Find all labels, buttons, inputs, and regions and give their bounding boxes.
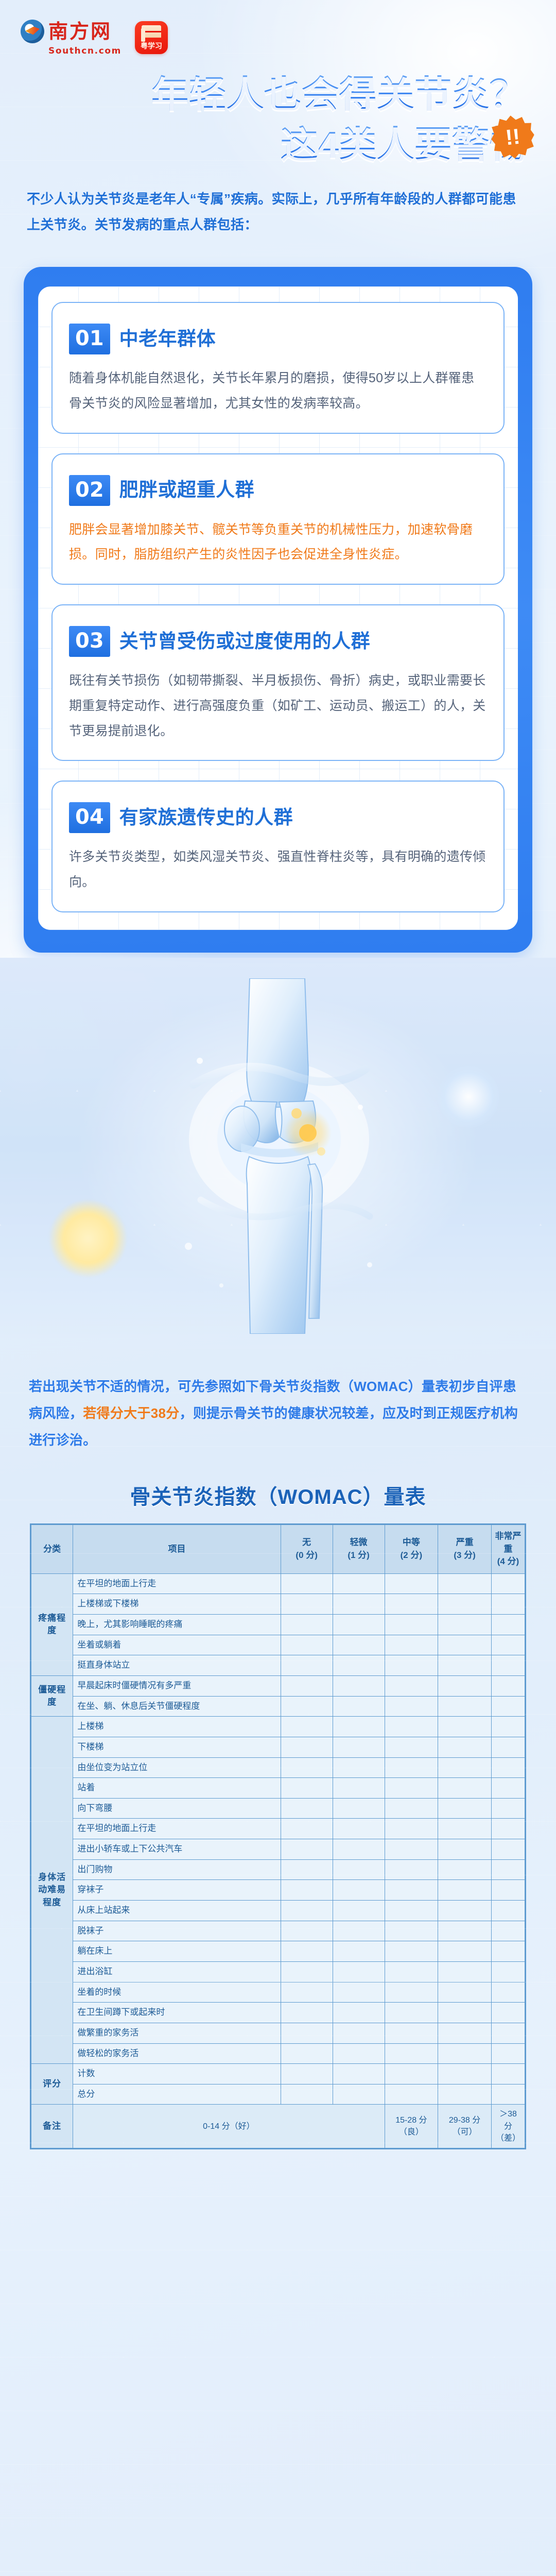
risk-card-02-head: 02 肥胖或超重人群 [69,475,487,506]
womac-score-cell-1[interactable] [333,1635,385,1655]
womac-score-cell-3[interactable] [438,1859,492,1880]
risk-card-01-body: 随着身体机能自然退化，关节长年累月的磨损，使得50岁以上人群罹患骨关节炎的风险显… [69,366,487,416]
risk-card-01-number: 01 [69,324,110,354]
womac-score-summary-cell-3[interactable] [438,2064,492,2084]
womac-item-cell: 站着 [73,1778,281,1799]
womac-score-cell-0[interactable] [281,1635,333,1655]
intro-paragraph: 不少人认为关节炎是老年人“专属”疾病。实际上，几乎所有年龄段的人群都可能患上关节… [27,187,529,238]
womac-score-cell-3[interactable] [438,1655,492,1676]
womac-score-cell-3[interactable] [438,1961,492,1982]
womac-score-cell-2[interactable] [385,2043,438,2064]
womac-row: 做轻松的家务活 [31,2043,525,2064]
womac-score-cell-0[interactable] [281,1737,333,1757]
womac-score-cell-2[interactable] [385,1717,438,1737]
womac-row: 晚上，尤其影响睡眠的疼痛 [31,1615,525,1635]
womac-item-cell: 上楼梯 [73,1717,281,1737]
womac-score-cell-1[interactable] [333,1594,385,1615]
womac-score-summary-cell-2[interactable] [385,2064,438,2084]
risk-card-03-body: 既往有关节损伤（如韧带撕裂、半月板损伤、骨折）病史，或职业需要长期重复特定动作、… [69,668,487,743]
womac-score-cell-1[interactable] [333,1982,385,2003]
womac-score-cell-3[interactable] [438,1778,492,1799]
womac-score-cell-0[interactable] [281,1859,333,1880]
womac-score-cell-0[interactable] [281,1594,333,1615]
womac-score-cell-2[interactable] [385,1839,438,1860]
womac-row: 下楼梯 [31,1737,525,1757]
womac-score-cell-2[interactable] [385,1676,438,1697]
womac-score-cell-4[interactable] [491,1982,525,2003]
womac-row: 出门购物 [31,1859,525,1880]
womac-item-cell: 早晨起床时僵硬情况有多严重 [73,1676,281,1697]
womac-score-cell-0[interactable] [281,1901,333,1921]
womac-score-cell-4[interactable] [491,2043,525,2064]
womac-score-cell-0[interactable] [281,1655,333,1676]
womac-score-cell-1[interactable] [333,1778,385,1799]
womac-score-cell-1[interactable] [333,1615,385,1635]
womac-row: 疼痛程度在平坦的地面上行走 [31,1573,525,1594]
risk-card-01-title: 中老年群体 [119,328,216,350]
womac-score-cell-2[interactable] [385,1737,438,1757]
womac-score-cell-2[interactable] [385,1941,438,1962]
womac-item-cell: 脱袜子 [73,1921,281,1941]
womac-score-cell-3[interactable] [438,2023,492,2043]
womac-score-cell-3[interactable] [438,1615,492,1635]
womac-score-cell-0[interactable] [281,1982,333,2003]
womac-row: 在坐、躺、休息后关节僵硬程度 [31,1696,525,1717]
womac-score-cell-2[interactable] [385,1615,438,1635]
womac-item-cell: 向下弯腰 [73,1798,281,1819]
womac-category-cell: 僵硬程度 [31,1676,73,1717]
risk-card-02-number: 02 [69,475,110,506]
womac-note-cell-2: 29-38 分（可） [438,2105,492,2148]
risk-card-03-number: 03 [69,626,110,657]
risk-card-03: 03 关节曾受伤或过度使用的人群 既往有关节损伤（如韧带撕裂、半月板损伤、骨折）… [51,604,505,761]
womac-score-cell-2[interactable] [385,1635,438,1655]
womac-score-cell-0[interactable] [281,1757,333,1778]
womac-score-cell-2[interactable] [385,1798,438,1819]
womac-row: 挺直身体站立 [31,1655,525,1676]
womac-score-cell-4[interactable] [491,1778,525,1799]
womac-item-cell: 由坐位变为站立位 [73,1757,281,1778]
womac-score-cell-4[interactable] [491,2003,525,2023]
womac-score-cell-1[interactable] [333,1901,385,1921]
womac-score-summary-cell-0[interactable] [281,2064,333,2084]
womac-row: 脱袜子 [31,1921,525,1941]
womac-score-cell-2[interactable] [385,1757,438,1778]
womac-col-category: 分类 [31,1524,73,1573]
womac-row: 上楼梯或下楼梯 [31,1594,525,1615]
womac-item-cell: 进出小轿车或上下公共汽车 [73,1839,281,1860]
womac-col-item: 项目 [73,1524,281,1573]
risk-card-04-body: 许多关节炎类型，如类风湿关节炎、强直性脊柱炎等，具有明确的遗传倾向。 [69,844,487,895]
womac-row: 在平坦的地面上行走 [31,1819,525,1839]
page-title-line-1: 年轻人也会得关节炎？ [151,71,527,118]
womac-score-cell-2[interactable] [385,1901,438,1921]
womac-score-summary-cell-1[interactable] [333,2064,385,2084]
womac-score-cell-3[interactable] [438,1798,492,1819]
womac-table-wrap: 分类 项目 无(0 分) 轻微(1 分) 中等(2 分) 严重(3 分) 非常严… [30,1523,526,2149]
womac-table: 分类 项目 无(0 分) 轻微(1 分) 中等(2 分) 严重(3 分) 非常严… [31,1524,525,2148]
womac-score-cell-1[interactable] [333,1921,385,1941]
womac-score-cell-0[interactable] [281,1819,333,1839]
womac-score-cell-4[interactable] [491,1594,525,1615]
womac-score-cell-3[interactable] [438,1696,492,1717]
risk-card-01: 01 中老年群体 随着身体机能自然退化，关节长年累月的磨损，使得50岁以上人群罹… [51,302,505,434]
womac-row: 穿袜子 [31,1880,525,1901]
womac-item-cell: 在卫生间蹲下或起来时 [73,2003,281,2023]
knee-illustration-section [0,958,556,1349]
risk-card-02-title: 肥胖或超重人群 [119,479,255,501]
womac-score-cell-3[interactable] [438,1982,492,2003]
womac-score-cell-0[interactable] [281,1696,333,1717]
womac-score-cell-2[interactable] [385,1778,438,1799]
womac-score-cell-1[interactable] [333,1737,385,1757]
womac-score-cell-3[interactable] [438,2003,492,2023]
womac-score-cell-3[interactable] [438,1676,492,1697]
womac-item-cell: 上楼梯或下楼梯 [73,1594,281,1615]
womac-table-body: 疼痛程度在平坦的地面上行走上楼梯或下楼梯晚上，尤其影响睡眠的疼痛坐着或躺着挺直身… [31,1573,525,2148]
womac-score-cell-0[interactable] [281,1573,333,1594]
womac-score-cell-3[interactable] [438,1573,492,1594]
knee-joint-xray-illustration-icon [144,978,412,1334]
womac-score-cell-1[interactable] [333,1819,385,1839]
womac-score-cell-0[interactable] [281,1941,333,1962]
yuexuexi-app-icon: 粤学习 [135,21,168,54]
risk-card-04-number: 04 [69,802,110,833]
womac-score-cell-4[interactable] [491,1635,525,1655]
womac-item-cell: 在平坦的地面上行走 [73,1819,281,1839]
womac-score-cell-2[interactable] [385,1961,438,1982]
womac-score-cell-1[interactable] [333,1573,385,1594]
womac-score-label-cell: 评分 [31,2064,73,2105]
womac-score-summary-cell-3[interactable] [438,2084,492,2105]
womac-score-cell-4[interactable] [491,1655,525,1676]
womac-item-cell: 做繁重的家务活 [73,2023,281,2043]
womac-score-cell-0[interactable] [281,1615,333,1635]
womac-score-cell-2[interactable] [385,1573,438,1594]
womac-score-cell-1[interactable] [333,1961,385,1982]
womac-note-row: 备注0-14 分（好）15-28 分（良）29-38 分（可）＞38 分（差） [31,2105,525,2148]
risk-groups-panel: 01 中老年群体 随着身体机能自然退化，关节长年累月的磨损，使得50岁以上人群罹… [24,267,532,953]
womac-score-cell-3[interactable] [438,1635,492,1655]
womac-score-cell-3[interactable] [438,1921,492,1941]
womac-score-cell-1[interactable] [333,2043,385,2064]
womac-score-cell-0[interactable] [281,1961,333,1982]
yuexuexi-label: 粤学习 [135,41,168,51]
womac-table-head: 分类 项目 无(0 分) 轻微(1 分) 中等(2 分) 严重(3 分) 非常严… [31,1524,525,1573]
footer-spacer [0,2180,556,2201]
womac-item-cell: 穿袜子 [73,1880,281,1901]
womac-row: 站着 [31,1778,525,1799]
womac-row: 进出浴缸 [31,1961,525,1982]
womac-item-cell: 坐着的时候 [73,1982,281,2003]
womac-score-cell-4[interactable] [491,1757,525,1778]
womac-header-row: 分类 项目 无(0 分) 轻微(1 分) 中等(2 分) 严重(3 分) 非常严… [31,1524,525,1573]
womac-row: 从床上站起来 [31,1901,525,1921]
womac-score-cell-1[interactable] [333,2023,385,2043]
womac-item-cell: 出门购物 [73,1859,281,1880]
womac-category-cell: 身体活动难易程度 [31,1717,73,2064]
womac-item-cell: 在坐、躺、休息后关节僵硬程度 [73,1696,281,1717]
risk-card-01-head: 01 中老年群体 [69,324,487,354]
womac-col-score-3: 严重(3 分) [438,1524,492,1573]
advice-paragraph: 若出现关节不适的情况，可先参照如下骨关节炎指数（WOMAC）量表初步自评患病风险… [29,1373,527,1453]
womac-score-sublabel-cell: 总分 [73,2084,281,2105]
womac-score-summary-cell-2[interactable] [385,2084,438,2105]
womac-score-cell-1[interactable] [333,1696,385,1717]
womac-score-cell-2[interactable] [385,2003,438,2023]
womac-item-cell: 挺直身体站立 [73,1655,281,1676]
womac-score-cell-1[interactable] [333,1757,385,1778]
womac-row: 僵硬程度早晨起床时僵硬情况有多严重 [31,1676,525,1697]
womac-score-cell-2[interactable] [385,1655,438,1676]
womac-score-cell-4[interactable] [491,1941,525,1962]
womac-score-cell-2[interactable] [385,1982,438,2003]
white-glow-accent [438,1066,499,1128]
womac-score-cell-1[interactable] [333,2003,385,2023]
infographic-page: 南方网 Southcn.com 粤学习 年轻人也会得关节炎？ 这4类人要警惕 !… [0,0,556,2576]
womac-score-cell-4[interactable] [491,1859,525,1880]
womac-score-cell-3[interactable] [438,1594,492,1615]
womac-note-cell-3: ＞38 分（差） [491,2105,525,2148]
womac-item-cell: 坐着或躺着 [73,1635,281,1655]
womac-item-cell: 在平坦的地面上行走 [73,1573,281,1594]
womac-row: 坐着的时候 [31,1982,525,2003]
womac-score-cell-1[interactable] [333,1655,385,1676]
womac-score-summary-row: 评分计数 [31,2064,525,2084]
womac-row: 进出小轿车或上下公共汽车 [31,1839,525,1860]
womac-score-cell-1[interactable] [333,1941,385,1962]
womac-score-cell-0[interactable] [281,2023,333,2043]
womac-item-cell: 下楼梯 [73,1737,281,1757]
womac-note-label-cell: 备注 [31,2105,73,2148]
womac-score-cell-2[interactable] [385,2023,438,2043]
womac-score-cell-4[interactable] [491,1573,525,1594]
womac-item-cell: 做轻松的家务活 [73,2043,281,2064]
womac-score-cell-4[interactable] [491,1839,525,1860]
risk-groups-panel-inner: 01 中老年群体 随着身体机能自然退化，关节长年累月的磨损，使得50岁以上人群罹… [38,286,518,930]
womac-row: 身体活动难易程度上楼梯 [31,1717,525,1737]
womac-score-cell-1[interactable] [333,1798,385,1819]
womac-score-cell-4[interactable] [491,1819,525,1839]
womac-row: 向下弯腰 [31,1798,525,1819]
womac-score-cell-2[interactable] [385,1594,438,1615]
womac-score-cell-3[interactable] [438,1819,492,1839]
womac-score-summary-cell-4[interactable] [491,2064,525,2084]
womac-table-title: 骨关节炎指数（WOMAC）量表 [0,1480,556,1510]
southcn-logo-cn: 南方网 [48,22,112,41]
logo-bar: 南方网 Southcn.com 粤学习 [0,0,556,62]
womac-col-score-0: 无(0 分) [281,1524,333,1573]
womac-row: 躺在床上 [31,1941,525,1962]
southcn-logo-en: Southcn.com [48,46,121,56]
womac-score-cell-3[interactable] [438,1839,492,1860]
womac-score-cell-4[interactable] [491,1880,525,1901]
womac-score-cell-4[interactable] [491,1737,525,1757]
womac-item-cell: 从床上站起来 [73,1901,281,1921]
womac-score-cell-0[interactable] [281,1921,333,1941]
womac-row: 坐着或躺着 [31,1635,525,1655]
womac-score-cell-4[interactable] [491,1961,525,1982]
risk-card-04-title: 有家族遗传史的人群 [119,806,293,829]
womac-score-cell-4[interactable] [491,1921,525,1941]
womac-score-cell-0[interactable] [281,1839,333,1860]
southcn-swirl-logo-icon [21,20,44,43]
womac-score-cell-4[interactable] [491,1717,525,1737]
womac-score-cell-1[interactable] [333,1859,385,1880]
womac-score-cell-0[interactable] [281,2043,333,2064]
womac-score-cell-3[interactable] [438,1717,492,1737]
womac-score-cell-0[interactable] [281,1778,333,1799]
womac-score-cell-3[interactable] [438,1737,492,1757]
womac-col-score-1: 轻微(1 分) [333,1524,385,1573]
womac-score-cell-1[interactable] [333,1839,385,1860]
womac-col-score-2: 中等(2 分) [385,1524,438,1573]
womac-score-cell-4[interactable] [491,1676,525,1697]
womac-item-cell: 躺在床上 [73,1941,281,1962]
womac-col-score-4: 非常严重(4 分) [491,1524,525,1573]
womac-score-cell-1[interactable] [333,1880,385,1901]
womac-note-cell-1: 15-28 分（良） [385,2105,438,2148]
womac-score-cell-2[interactable] [385,1921,438,1941]
womac-score-cell-2[interactable] [385,1859,438,1880]
womac-row: 由坐位变为站立位 [31,1757,525,1778]
womac-score-cell-1[interactable] [333,1676,385,1697]
risk-card-02: 02 肥胖或超重人群 肥胖会显著增加膝关节、髋关节等负重关节的机械性压力，加速软… [51,453,505,585]
womac-score-cell-0[interactable] [281,1880,333,1901]
risk-card-04-head: 04 有家族遗传史的人群 [69,802,487,833]
womac-score-summary-cell-4[interactable] [491,2084,525,2105]
womac-note-cell-0: 0-14 分（好） [73,2105,385,2148]
womac-score-summary-cell-1[interactable] [333,2084,385,2105]
womac-score-cell-3[interactable] [438,1757,492,1778]
bookmark-icon [141,28,145,42]
womac-item-cell: 进出浴缸 [73,1961,281,1982]
womac-score-cell-0[interactable] [281,2003,333,2023]
risk-card-03-head: 03 关节曾受伤或过度使用的人群 [69,626,487,657]
womac-score-summary-cell-0[interactable] [281,2084,333,2105]
risk-card-04: 04 有家族遗传史的人群 许多关节炎类型，如类风湿关节炎、强直性脊柱炎等，具有明… [51,781,505,912]
womac-score-cell-2[interactable] [385,1696,438,1717]
womac-score-cell-3[interactable] [438,1901,492,1921]
womac-score-cell-0[interactable] [281,1798,333,1819]
risk-card-02-body: 肥胖会显著增加膝关节、髋关节等负重关节的机械性压力，加速软骨磨损。同时，脂肪组织… [69,517,487,568]
womac-score-sublabel-cell: 计数 [73,2064,281,2084]
womac-score-cell-4[interactable] [491,1798,525,1819]
womac-score-cell-2[interactable] [385,1880,438,1901]
womac-score-cell-3[interactable] [438,2043,492,2064]
womac-row: 做繁重的家务活 [31,2023,525,2043]
womac-score-cell-4[interactable] [491,2023,525,2043]
southcn-logo: 南方网 Southcn.com [21,20,121,56]
title-block: 年轻人也会得关节炎？ 这4类人要警惕 [0,62,556,169]
womac-row: 在卫生间蹲下或起来时 [31,2003,525,2023]
womac-score-summary-row: 总分 [31,2084,525,2105]
risk-card-03-title: 关节曾受伤或过度使用的人群 [119,630,371,653]
womac-item-cell: 晚上，尤其影响睡眠的疼痛 [73,1615,281,1635]
womac-category-cell: 疼痛程度 [31,1573,73,1675]
womac-score-cell-1[interactable] [333,1717,385,1737]
womac-score-cell-3[interactable] [438,1880,492,1901]
womac-score-cell-0[interactable] [281,1717,333,1737]
womac-score-cell-2[interactable] [385,1819,438,1839]
womac-score-cell-0[interactable] [281,1676,333,1697]
advice-highlight: 若得分大于38分 [83,1405,179,1421]
yellow-glow-accent [49,1200,127,1277]
womac-score-cell-4[interactable] [491,1615,525,1635]
womac-score-cell-3[interactable] [438,1941,492,1962]
page-title-line-2: 这4类人要警惕 [281,122,527,169]
womac-score-cell-4[interactable] [491,1696,525,1717]
womac-score-cell-4[interactable] [491,1901,525,1921]
